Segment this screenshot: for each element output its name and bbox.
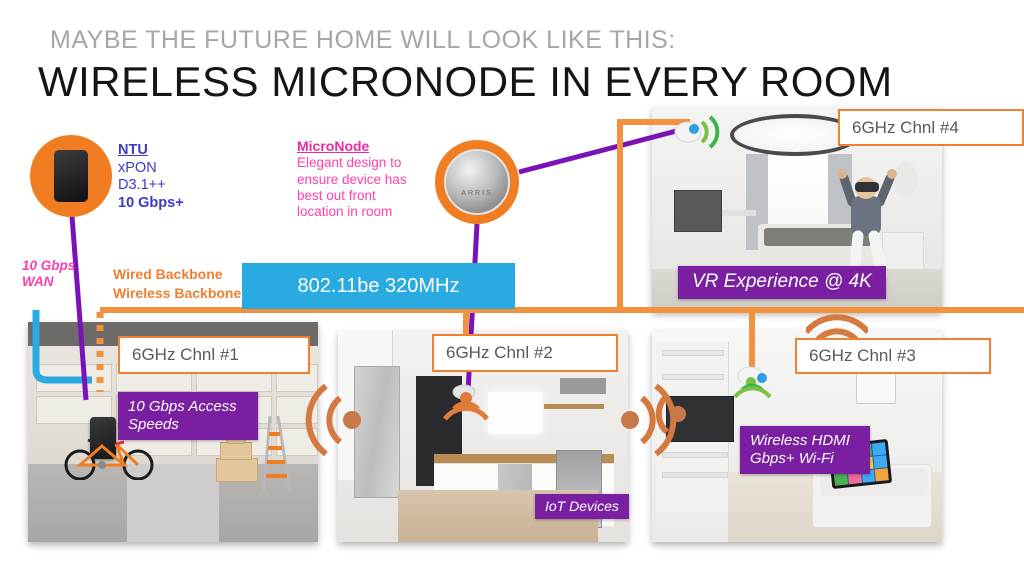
backbone-legend-wireless: Wireless Backbone xyxy=(113,284,241,303)
wifi-node-living-icon xyxy=(732,362,786,402)
channel-chip-4: 6GHz Chnl #4 xyxy=(838,109,1024,146)
backbone-legend: Wired Backbone Wireless Backbone xyxy=(113,265,241,303)
wan-label: 10 Gbps WAN xyxy=(22,258,75,290)
micronode-puck-icon: ARRIS xyxy=(444,149,510,215)
bedroom-tv-icon xyxy=(674,190,722,232)
ntu-callout-heading: NTU xyxy=(118,142,184,160)
channel-chip-1: 6GHz Chnl #1 xyxy=(118,336,310,374)
standard-badge: 802.11be 320MHz xyxy=(242,263,515,309)
slide-canvas: MAYBE THE FUTURE HOME WILL LOOK LIKE THI… xyxy=(0,0,1024,573)
micronode-callout-body: Elegant design to ensure device has best… xyxy=(297,155,437,221)
ntu-callout: NTU xPON D3.1++ 10 Gbps+ xyxy=(118,142,184,213)
backbone-legend-wired: Wired Backbone xyxy=(113,265,241,284)
micronode-callout-heading: MicroNode xyxy=(297,138,437,155)
bottom-fade xyxy=(0,543,1024,573)
caption-access-speeds: 10 Gbps Access Speeds xyxy=(118,392,258,440)
vr-user-icon xyxy=(834,162,898,278)
step-ladder-icon xyxy=(256,414,294,492)
micronode-callout: MicroNode Elegant design to ensure devic… xyxy=(297,138,437,221)
ntu-callout-line-3: 10 Gbps+ xyxy=(118,195,184,213)
channel-chip-3: 6GHz Chnl #3 xyxy=(795,338,991,374)
ntu-device-icon xyxy=(54,150,88,202)
caption-vr-experience: VR Experience @ 4K xyxy=(678,266,886,299)
cardboard-boxes-icon xyxy=(214,434,258,482)
page-title: WIRELESS MICRONODE IN EVERY ROOM xyxy=(38,58,893,106)
wifi-node-kitchen-icon xyxy=(432,382,500,436)
channel-chip-2: 6GHz Chnl #2 xyxy=(432,334,618,372)
wifi-waves-living-left-icon xyxy=(634,378,694,450)
ntu-device-badge xyxy=(30,135,112,217)
micronode-device-badge: ARRIS xyxy=(435,140,519,224)
wifi-node-bedroom-icon xyxy=(672,112,724,150)
caption-wireless-hdmi: Wireless HDMI Gbps+ Wi-Fi xyxy=(740,426,870,474)
device-brand-label: ARRIS xyxy=(461,190,492,197)
caption-iot-devices: IoT Devices xyxy=(535,494,629,519)
ntu-callout-line-1: xPON xyxy=(118,160,184,178)
ntu-callout-line-2: D3.1++ xyxy=(118,177,184,195)
wifi-waves-garage-icon xyxy=(296,378,368,462)
slide-subtitle: MAYBE THE FUTURE HOME WILL LOOK LIKE THI… xyxy=(50,26,676,55)
